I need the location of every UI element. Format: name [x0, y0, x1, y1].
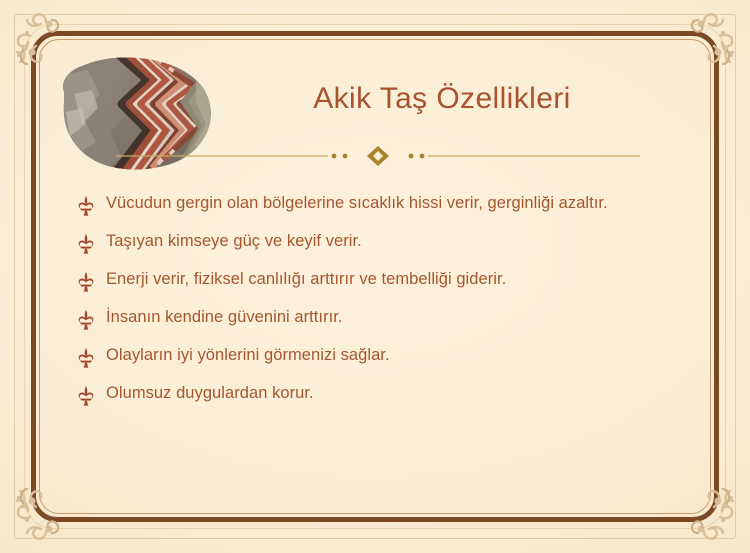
- fleur-de-lis-bullet-icon: [74, 384, 98, 408]
- list-item: Enerji verir, fiziksel canlılığı arttırı…: [74, 269, 654, 294]
- corner-flourish-bottom-right-icon: [658, 461, 744, 547]
- list-item-label: Olumsuz duygulardan korur.: [106, 383, 314, 405]
- list-item: Olayların iyi yönlerini görmenizi sağlar…: [74, 345, 654, 370]
- list-item: Taşıyan kimseye güç ve keyif verir.: [74, 231, 654, 256]
- list-item: Vücudun gergin olan bölgelerine sıcaklık…: [74, 193, 654, 218]
- list-item-label: Taşıyan kimseye güç ve keyif verir.: [106, 231, 362, 253]
- ornamental-divider-icon: [116, 145, 640, 167]
- fleur-de-lis-bullet-icon: [74, 232, 98, 256]
- list-item: İnsanın kendine güvenini arttırır.: [74, 307, 654, 332]
- list-item-label: İnsanın kendine güvenini arttırır.: [106, 307, 343, 329]
- corner-flourish-top-right-icon: [658, 6, 744, 92]
- list-item: Olumsuz duygulardan korur.: [74, 383, 654, 408]
- features-list: Vücudun gergin olan bölgelerine sıcaklık…: [74, 193, 654, 421]
- fleur-de-lis-bullet-icon: [74, 346, 98, 370]
- fleur-de-lis-bullet-icon: [74, 308, 98, 332]
- title-block: Akik Taş Özellikleri: [232, 82, 652, 115]
- list-item-label: Enerji verir, fiziksel canlılığı arttırı…: [106, 269, 506, 291]
- page-title: Akik Taş Özellikleri: [232, 82, 652, 115]
- fleur-de-lis-bullet-icon: [74, 194, 98, 218]
- fleur-de-lis-bullet-icon: [74, 270, 98, 294]
- list-item-label: Vücudun gergin olan bölgelerine sıcaklık…: [106, 193, 608, 215]
- list-item-label: Olayların iyi yönlerini görmenizi sağlar…: [106, 345, 390, 367]
- info-card: Akik Taş Özellikleri: [0, 0, 750, 553]
- corner-flourish-bottom-left-icon: [6, 461, 92, 547]
